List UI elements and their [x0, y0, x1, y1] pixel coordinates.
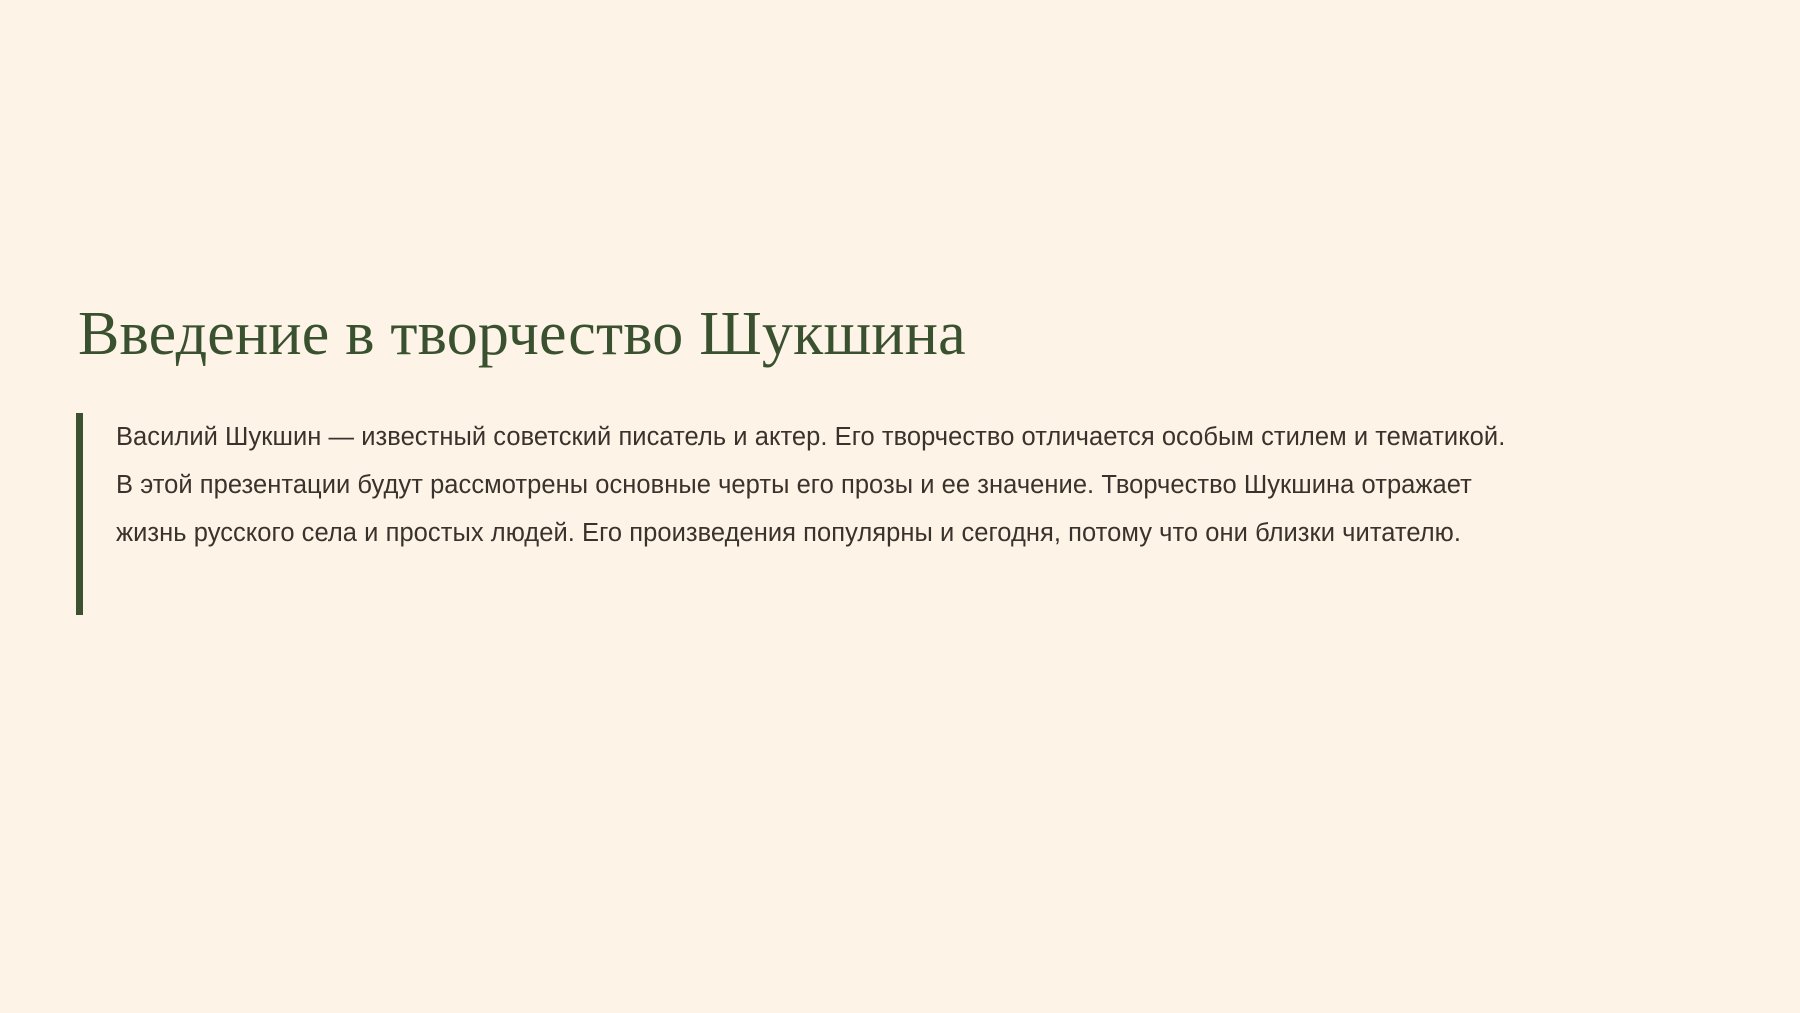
page-title: Введение в творчество Шукшина	[78, 300, 1506, 369]
accent-bar	[76, 413, 83, 615]
presentation-slide: Введение в творчество Шукшина Василий Шу…	[0, 0, 1800, 1013]
slide-content: Введение в творчество Шукшина Василий Шу…	[76, 300, 1506, 615]
body-quote-block: Василий Шукшин — известный советский пис…	[76, 413, 1506, 615]
body-paragraph: Василий Шукшин — известный советский пис…	[116, 413, 1506, 557]
